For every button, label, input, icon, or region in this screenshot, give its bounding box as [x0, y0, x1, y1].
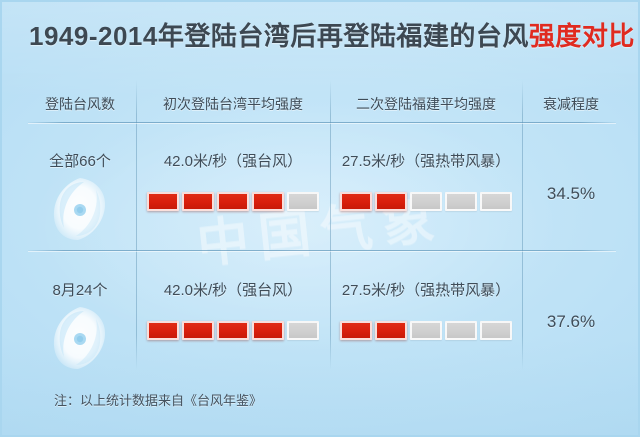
column-header-second: 二次登陆福建平均强度	[330, 94, 522, 114]
intensity-block	[375, 321, 407, 340]
intensity-block	[410, 192, 442, 211]
typhoon-spiral-icon	[48, 303, 112, 373]
intensity-block	[480, 321, 512, 340]
row-label-count-0: 全部66个	[24, 150, 136, 171]
column-header-first: 初次登陆台湾平均强度	[136, 94, 330, 114]
second-landfall-value-1: 27.5米/秒（强热带风暴）	[330, 279, 522, 300]
intensity-block	[375, 192, 407, 211]
intensity-block	[252, 321, 284, 340]
intensity-block	[217, 321, 249, 340]
column-header-count: 登陆台风数	[24, 94, 136, 114]
footnote: 注：以上统计数据来自《台风年鉴》	[54, 390, 262, 409]
intensity-block	[287, 192, 319, 211]
intensity-block	[445, 321, 477, 340]
title-main: 1949-2014年登陆台湾后再登陆福建的台风	[29, 21, 529, 51]
first-landfall-value-1: 42.0米/秒（强台风）	[136, 279, 330, 300]
second-landfall-value-0: 27.5米/秒（强热带风暴）	[330, 150, 522, 171]
second-landfall-blocks-1	[330, 321, 522, 340]
comparison-table: 登陆台风数 初次登陆台湾平均强度 二次登陆福建平均强度 衰减程度 全部66个	[24, 74, 620, 374]
row-divider	[28, 250, 616, 251]
first-landfall-value-0: 42.0米/秒（强台风）	[136, 150, 330, 171]
intensity-block	[147, 192, 179, 211]
intensity-block	[287, 321, 319, 340]
second-landfall-blocks-0	[330, 192, 522, 211]
intensity-block	[147, 321, 179, 340]
first-landfall-blocks-1	[136, 321, 330, 340]
decay-value-1: 37.6%	[522, 312, 620, 332]
infographic-page: 中国气象 1949-2014年登陆台湾后再登陆福建的台风强度对比 登陆台风数 初…	[0, 0, 640, 437]
intensity-block	[480, 192, 512, 211]
title-accent: 强度对比	[529, 21, 635, 51]
intensity-block	[340, 192, 372, 211]
intensity-block	[340, 321, 372, 340]
page-title: 1949-2014年登陆台湾后再登陆福建的台风强度对比	[29, 16, 635, 53]
intensity-block	[182, 192, 214, 211]
column-header-decay: 衰减程度	[522, 94, 620, 114]
typhoon-spiral-icon	[48, 174, 112, 244]
intensity-block	[410, 321, 442, 340]
header-divider	[28, 122, 616, 123]
intensity-block	[182, 321, 214, 340]
intensity-block	[445, 192, 477, 211]
intensity-block	[217, 192, 249, 211]
first-landfall-blocks-0	[136, 192, 330, 211]
decay-value-0: 34.5%	[522, 184, 620, 204]
row-label-count-1: 8月24个	[24, 279, 136, 300]
intensity-block	[252, 192, 284, 211]
